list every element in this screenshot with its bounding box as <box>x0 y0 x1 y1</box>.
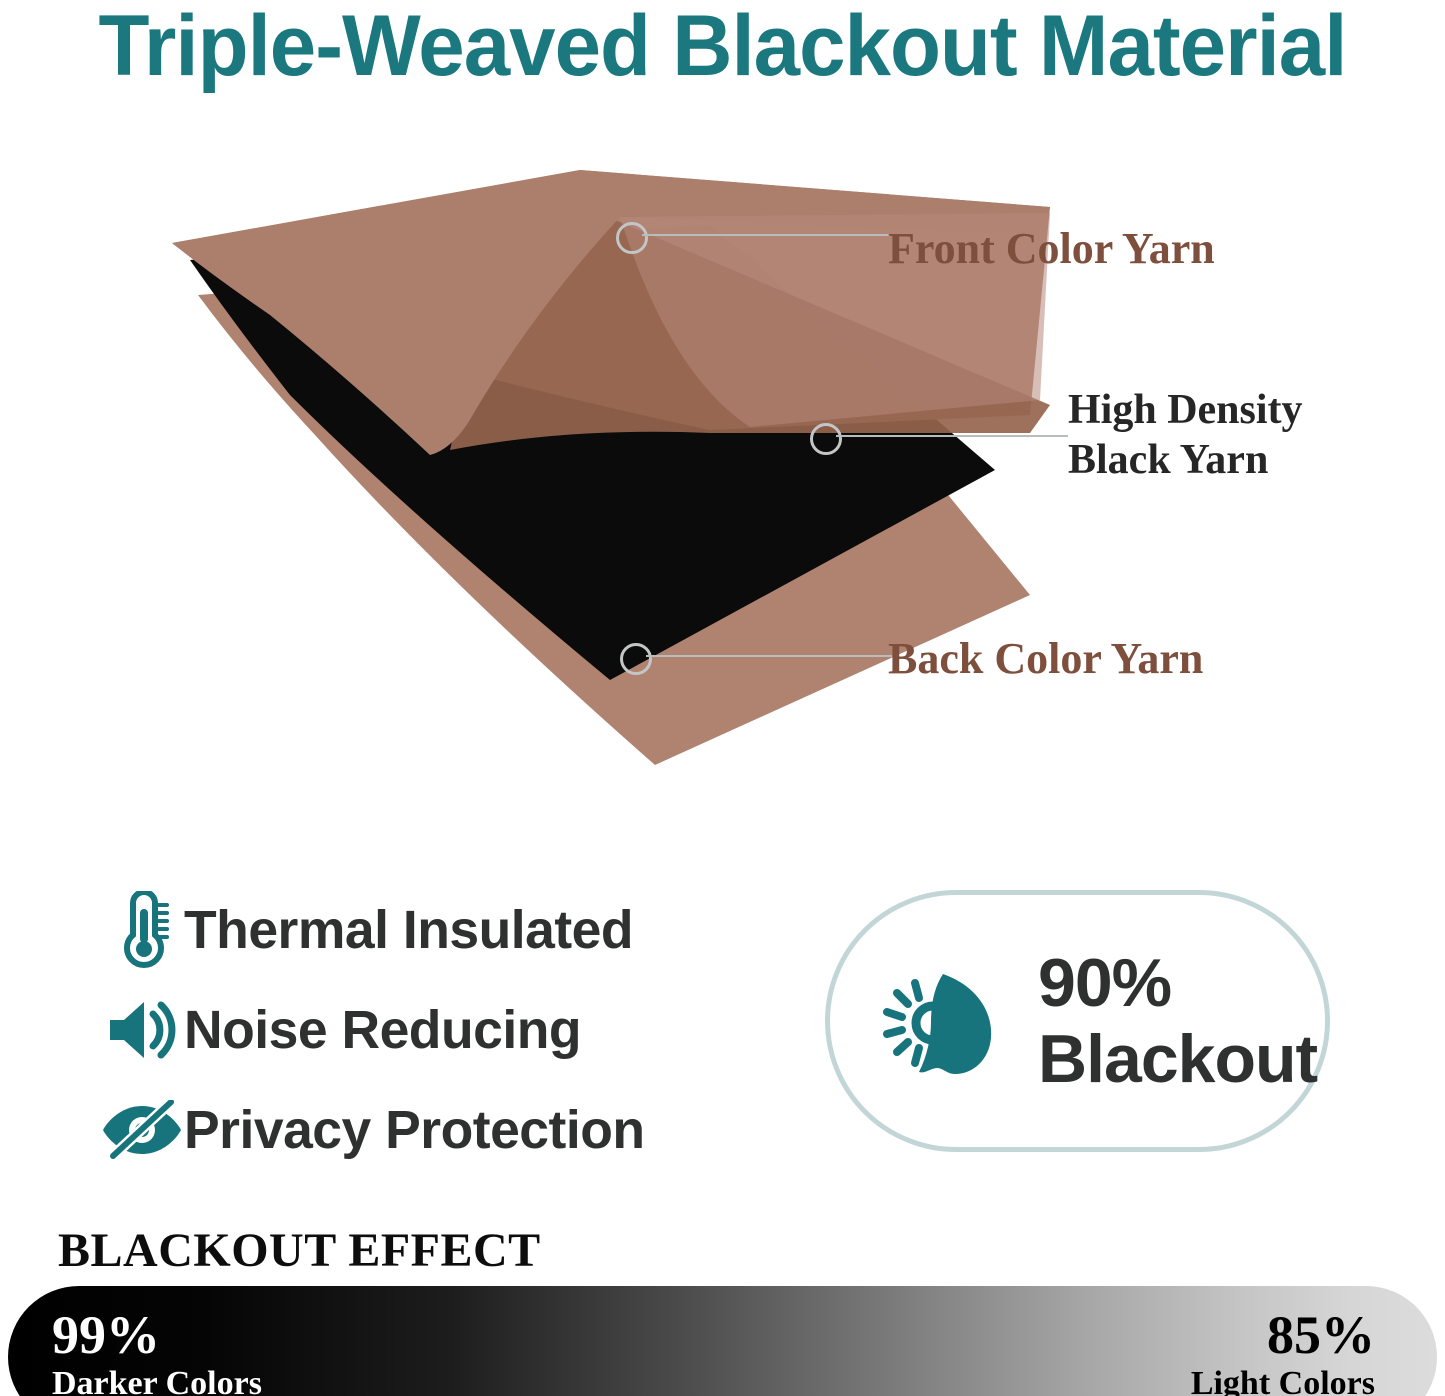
badge-text: 90% Blackout <box>1038 945 1317 1097</box>
feature-label-privacy-protection: Privacy Protection <box>184 1101 645 1159</box>
blackout-stat-light: 85% Light Colors <box>1191 1306 1375 1396</box>
feature-label-noise-reducing: Noise Reducing <box>184 1001 581 1059</box>
feature-label-thermal-insulated: Thermal Insulated <box>184 901 633 959</box>
feature-list: Thermal Insulated Noise Reducing <box>100 884 760 1184</box>
sun-behind-shade-icon <box>858 935 1030 1107</box>
leader-dot-black <box>810 423 842 455</box>
blackout-stat-darker-label: Darker Colors <box>52 1364 262 1396</box>
label-high-density-black-yarn: High Density Black Yarn <box>1068 385 1303 485</box>
leader-line-front <box>642 234 892 236</box>
label-black-line1: High Density <box>1068 387 1303 433</box>
page-title: Triple-Weaved Blackout Material <box>22 0 1424 94</box>
badge-percent: 90% <box>1038 945 1317 1021</box>
blackout-stat-darker-percent: 99% <box>52 1306 262 1364</box>
eye-slash-icon <box>100 1088 184 1172</box>
blackout-stat-light-label: Light Colors <box>1191 1364 1375 1396</box>
leader-line-back <box>646 655 892 657</box>
label-front-color-yarn: Front Color Yarn <box>888 222 1215 276</box>
feature-thermal-insulated: Thermal Insulated <box>100 884 760 976</box>
speaker-volume-icon <box>100 988 184 1072</box>
blackout-stat-light-percent: 85% <box>1191 1306 1375 1364</box>
badge-word: Blackout <box>1038 1021 1317 1097</box>
blackout-stat-darker: 99% Darker Colors <box>52 1306 262 1396</box>
leader-dot-front <box>616 222 648 254</box>
thermometer-icon <box>100 888 184 972</box>
blackout-effect-heading: BLACKOUT EFFECT <box>58 1224 541 1278</box>
leader-line-black <box>836 435 1068 437</box>
leader-dot-back <box>620 643 652 675</box>
feature-noise-reducing: Noise Reducing <box>100 984 760 1076</box>
feature-privacy-protection: Privacy Protection <box>100 1084 760 1176</box>
blackout-percentage-badge: 90% Blackout <box>825 890 1330 1152</box>
infographic-page: Triple-Weaved Blackout Material Front Co… <box>0 0 1445 1396</box>
label-black-line2: Black Yarn <box>1068 435 1303 485</box>
label-back-color-yarn: Back Color Yarn <box>888 632 1203 686</box>
